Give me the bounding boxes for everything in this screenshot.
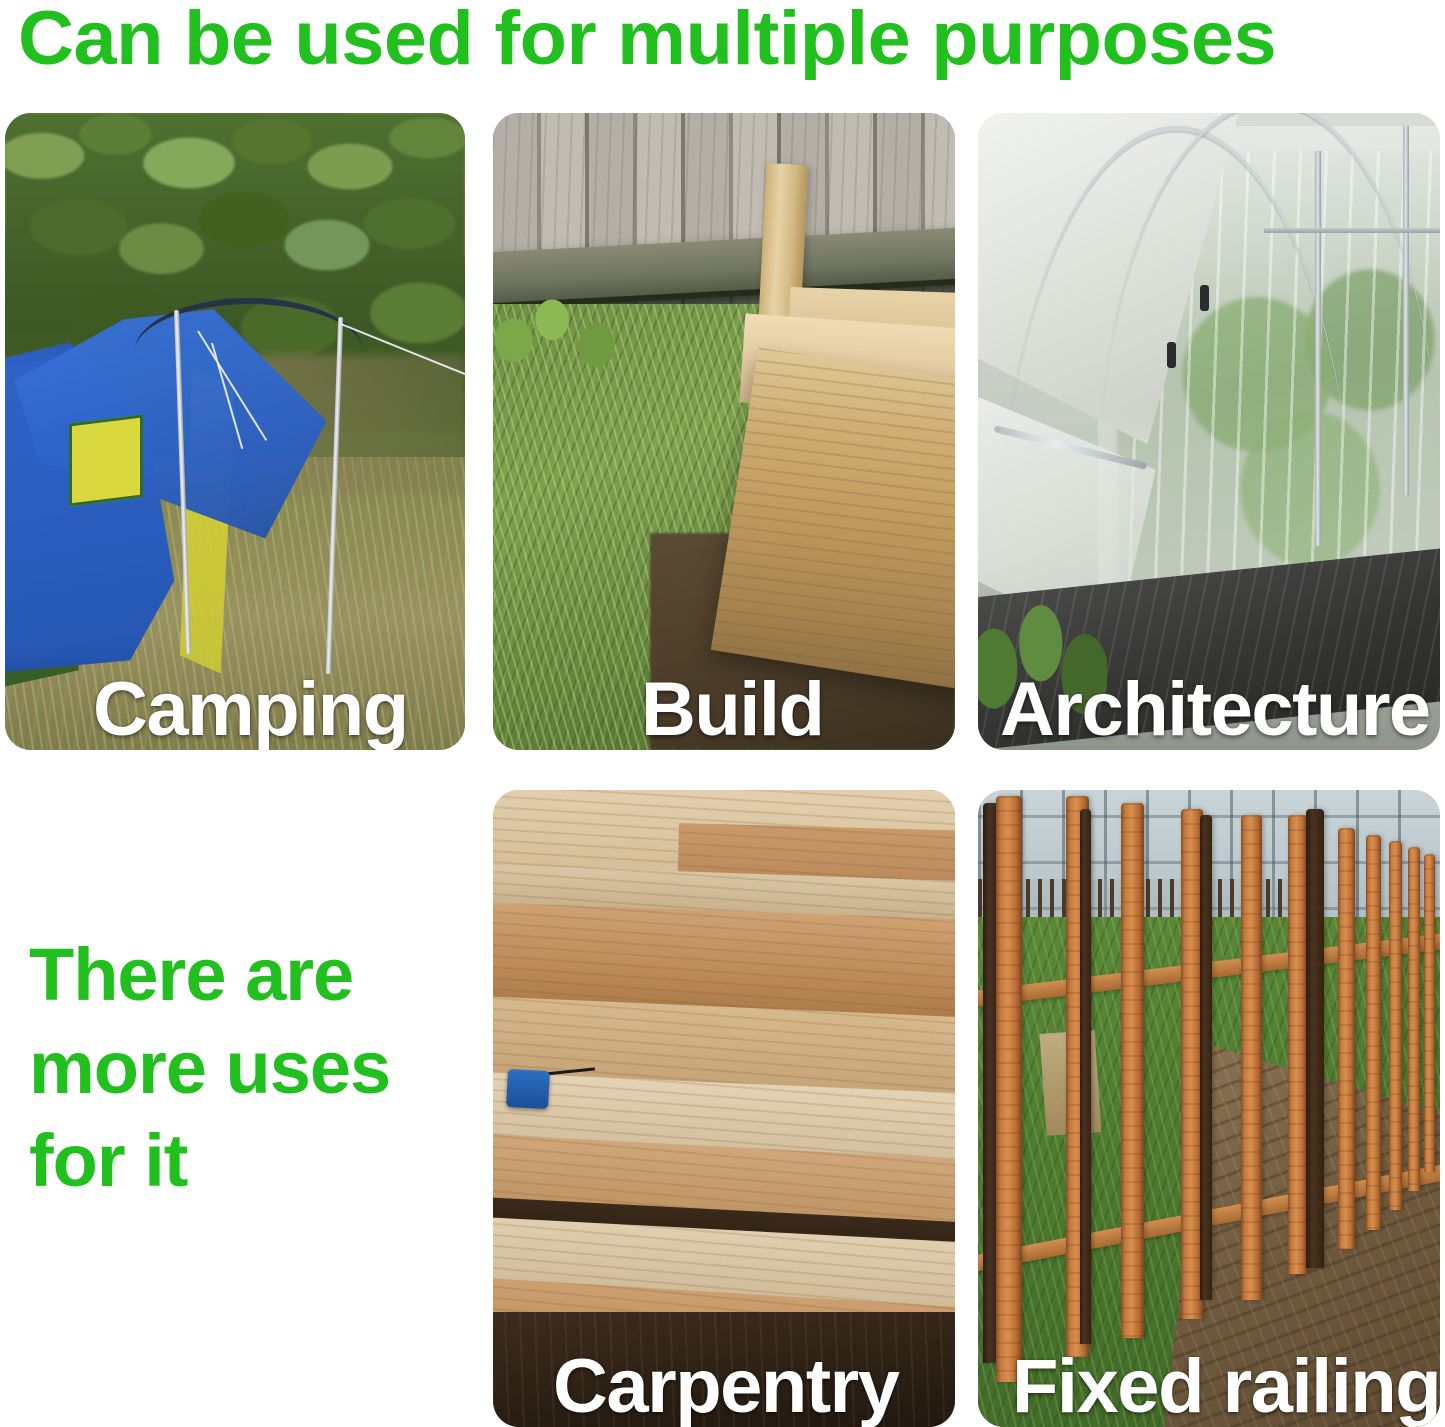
panel-caption-carpentry: Carpentry [553, 1349, 899, 1425]
fence-picket [1241, 815, 1261, 1299]
panel-railing: Fixed railing [978, 790, 1440, 1427]
build-photo [493, 113, 955, 750]
railing-photo [978, 790, 1440, 1427]
panel-build: Build [493, 113, 955, 750]
panel-caption-camping: Camping [93, 672, 408, 748]
greenhouse-post-1 [1315, 151, 1321, 546]
blurb-line-3: for it [29, 1114, 459, 1207]
greenhouse-post-2 [1403, 126, 1409, 495]
fence-picket [1121, 803, 1144, 1338]
fence-picket [1389, 841, 1402, 1210]
hoop-clip-2 [1167, 342, 1176, 368]
tape-measure [506, 1069, 550, 1109]
fence-picket [1200, 815, 1212, 1299]
carpentry-photo [493, 790, 955, 1427]
fence-picket [1366, 835, 1381, 1230]
blurb-line-2: more uses [29, 1021, 459, 1114]
panel-caption-build: Build [641, 672, 823, 748]
weeds [493, 279, 641, 381]
fence-picket [1288, 815, 1307, 1274]
greenhouse-beam [1264, 228, 1440, 233]
panel-carpentry: Carpentry [493, 790, 955, 1427]
more-uses-blurb: There are more uses for it [29, 928, 459, 1207]
camping-photo [5, 113, 465, 750]
panel-camping: Camping [5, 113, 465, 750]
blurb-line-1: There are [29, 928, 459, 1021]
page-title: Can be used for multiple purposes [18, 0, 1445, 82]
infographic-sheet: Can be used for multiple purposes There … [0, 0, 1445, 1427]
panel-architecture: Architecture [978, 113, 1440, 750]
panel-caption-railing: Fixed railing [1012, 1349, 1440, 1425]
fence-picket [996, 796, 1021, 1382]
architecture-photo [978, 113, 1440, 750]
fence-picket [1306, 809, 1324, 1268]
hoop-clip-1 [1200, 285, 1209, 311]
tent-window [69, 414, 143, 506]
fence-picket [1424, 854, 1435, 1173]
panel-caption-architecture: Architecture [1000, 672, 1430, 748]
fence-picket [1408, 847, 1420, 1191]
fence-picket [1338, 828, 1355, 1248]
fence-picket [1080, 809, 1092, 1344]
